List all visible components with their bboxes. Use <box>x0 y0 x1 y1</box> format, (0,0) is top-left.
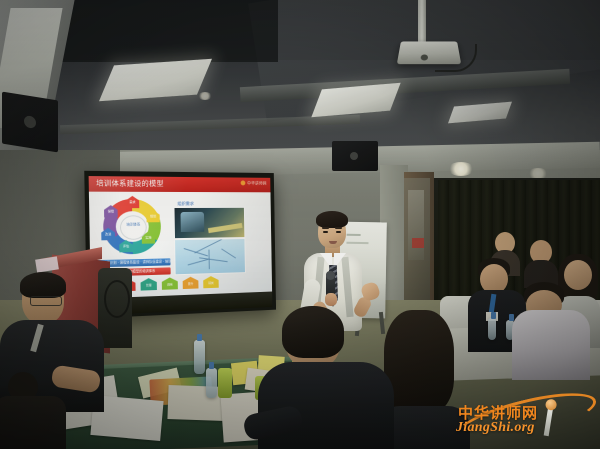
attendee-body <box>258 362 394 449</box>
slide-house-icon: 通用 <box>162 277 178 290</box>
presenter-hair <box>316 211 348 228</box>
slide-logo: 中华讲师网 <box>241 180 267 186</box>
door-glass-pane <box>408 190 424 260</box>
slide-logo-text: 中华讲师网 <box>247 181 267 186</box>
cycle-segment-house-icon: 需求 <box>126 196 140 208</box>
wall-speaker <box>2 92 58 153</box>
front-center-attendee <box>258 306 398 449</box>
wall-speaker <box>332 141 378 171</box>
projector-mount-pole <box>418 0 426 44</box>
slide-house-icon: 转岗 <box>203 276 219 288</box>
presenter-hand-holding-mic <box>325 293 337 306</box>
eyeglasses-icon <box>30 296 62 306</box>
slide-house-icon: 管理 <box>140 278 156 291</box>
logo-dot-icon <box>241 180 246 185</box>
slide-photo-train <box>173 207 245 239</box>
door-sign <box>412 238 424 248</box>
attendee-hair <box>20 272 66 298</box>
cycle-center-label: 培训体系 <box>121 222 146 226</box>
slide-title-bar: 培训体系建设的模型 中华讲师网 <box>89 176 271 192</box>
presenter-eyebrow <box>322 227 329 229</box>
seminar-photo: 培训体系建设的模型 中华讲师网 需求 规划 实施 评估 改进 保障 培训体系 <box>0 0 600 449</box>
presenter-eye <box>323 231 328 233</box>
right-table-attendee <box>512 282 590 378</box>
water-bottle-icon <box>194 340 205 374</box>
downlight-icon <box>448 162 474 176</box>
presenter-eye <box>336 231 341 233</box>
cycle-diagram: 需求 规划 实施 评估 改进 保障 培训体系 <box>100 197 165 257</box>
slide-photo-routemap <box>174 238 246 275</box>
attendee-body <box>512 310 590 380</box>
slide-title: 培训体系建设的模型 <box>96 178 164 189</box>
front-edge-attendee <box>0 372 66 449</box>
downlight-icon <box>198 92 212 100</box>
presenter-eyebrow <box>335 227 342 229</box>
attendee-body <box>0 396 66 449</box>
green-cup-icon <box>218 368 232 398</box>
water-bottle-icon <box>488 318 496 340</box>
back-row-attendee <box>524 240 558 284</box>
attendee-hair <box>282 306 344 358</box>
slide-house-icon: 晋升 <box>183 277 199 290</box>
water-bottle-icon <box>206 368 217 398</box>
